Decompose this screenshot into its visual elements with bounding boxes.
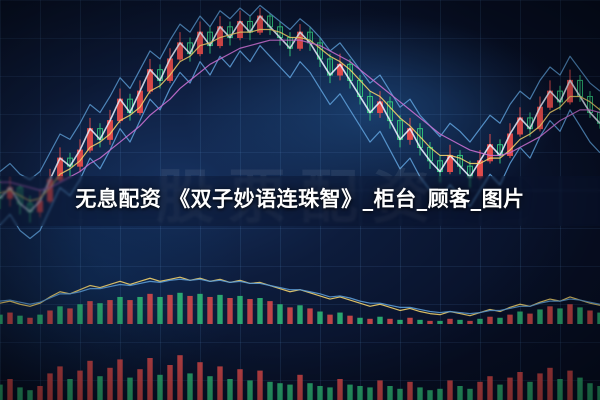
volume-bar [57,366,62,400]
volume-bar [317,386,322,400]
volume-bar [407,382,412,400]
volume-bar [157,375,162,400]
volume-bar [107,300,112,324]
volume-bar [267,301,272,324]
volume-bar [337,313,342,324]
volume-bar [577,378,582,400]
volume-bar [447,319,452,324]
volume-bar [327,315,332,324]
volume-bar [537,309,542,324]
volume-bar [537,373,542,400]
volume-bar [187,296,192,324]
indicator-panel [0,277,600,324]
volume-bar [397,389,402,400]
volume-bar [327,387,332,400]
volume-bar [417,387,422,400]
volume-bar [437,389,442,400]
volume-bar [567,371,572,400]
volume-bar [507,378,512,400]
volume-bar [47,310,52,324]
volume-bar [117,359,122,400]
volume-bar [37,315,42,324]
volume-bar [507,315,512,324]
volume-bar [167,365,172,400]
headline-text: 无息配资 《双子妙语连珠智》_柜台_顾客_图片 [0,183,600,213]
volume-bar [427,390,432,400]
volume-bar [187,373,192,400]
volume-bar [367,319,372,324]
volume-bar [487,376,492,400]
volume-bar [7,313,12,324]
volume-bar [287,307,292,324]
volume-bar [207,376,212,400]
volume-bar [237,296,242,324]
volume-bar [287,385,292,400]
volume-bar [257,298,262,324]
volume-bar [137,369,142,400]
volume-bar [367,387,372,400]
volume-bar [97,303,102,324]
volume-bar [587,310,592,324]
volume-bar [27,318,32,324]
volume-bar [157,297,162,324]
volume-bar [477,382,482,400]
volume-bar [377,380,382,400]
volume-bar [277,304,282,324]
volume-bar [237,369,242,400]
volume-bar [557,379,562,400]
volume-bar [67,308,72,324]
volume-bar [77,304,82,324]
volume-bar [457,386,462,400]
volume-bar [567,304,572,324]
volume-bar [467,321,472,324]
volume-bar [467,389,472,400]
volume-bar [107,368,112,400]
volume-bar [67,379,72,400]
volume-bar [247,380,252,400]
volume-bar [177,293,182,324]
volume-bar [527,314,532,324]
volume-bar [497,318,502,324]
volume-bar [297,305,302,324]
volume-bar [587,383,592,400]
volume-bar [177,355,182,400]
volume-bar [347,385,352,400]
volume-bar [217,366,222,400]
volume-bar [577,307,582,324]
volume-bar [417,320,422,324]
volume-bar [117,297,122,324]
volume-bar [517,372,522,400]
volume-bar [297,375,302,400]
volume-bar [197,294,202,324]
volume-bar [387,319,392,324]
volume-bar [307,383,312,400]
volume-bar [147,358,152,400]
volume-bar [47,373,52,400]
volume-bar [0,315,3,324]
volume-bar [207,297,212,324]
volume-bar [407,318,412,324]
volume-bar [197,362,202,400]
volume-bar [57,306,62,324]
volume-bar [347,316,352,324]
volume-bar [227,298,232,324]
volume-bar [377,317,382,324]
volume-bar [357,318,362,324]
volume-bar [87,301,92,324]
volume-bar [457,320,462,324]
volume-bar [87,361,92,400]
volume-bar [547,306,552,324]
volume-bar [217,295,222,324]
volume-bar [77,371,82,400]
volume-bar [267,382,272,400]
volume-bar [357,386,362,400]
volume-bar [397,320,402,324]
volume-bar [0,385,3,400]
volume-bar [247,299,252,324]
volume-bar [437,321,442,324]
volume-bar [387,386,392,400]
volume-bar [477,319,482,324]
volume-bar [127,378,132,400]
volume-panel [0,355,600,400]
volume-bar [147,294,152,324]
volume-bar [547,368,552,400]
volume-bar [527,382,532,400]
volume-bar [7,379,12,400]
volume-bar [17,316,22,324]
volume-bar [447,380,452,400]
volume-bar [97,376,102,400]
volume-bar [277,383,282,400]
volume-bar [307,308,312,324]
volume-bar [27,390,32,400]
volume-bar [37,386,42,400]
volume-bar [337,379,342,400]
volume-bar [317,312,322,324]
volume-bar [127,300,132,324]
volume-bar [227,379,232,400]
volume-bar [17,387,22,400]
volume-bar [517,312,522,324]
screenshot-root: 股票配资 无息配资 《双子妙语连珠智》_柜台_顾客_图片 [0,0,600,400]
volume-bar [137,297,142,324]
volume-bar [257,371,262,400]
volume-bar [557,308,562,324]
volume-bar [497,385,502,400]
volume-bar [487,317,492,324]
volume-bar [167,295,172,324]
volume-bar [427,321,432,324]
